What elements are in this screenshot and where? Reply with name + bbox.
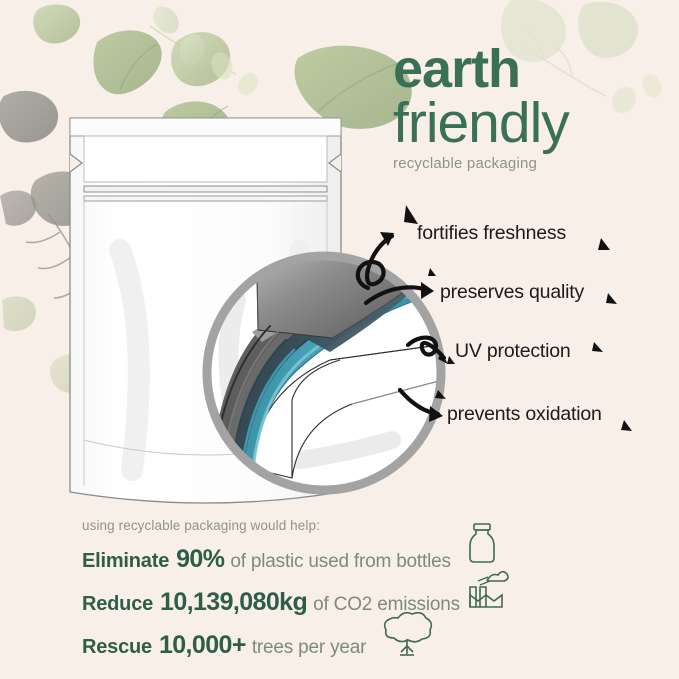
feature-label-fortifies-freshness: fortifies freshness	[417, 222, 566, 245]
stat-verb: Rescue	[82, 636, 152, 659]
factory-icon	[462, 565, 510, 611]
stat-row: Rescue 10,000+ trees per year	[82, 631, 602, 660]
feature-label-preserves-quality: preserves quality	[440, 281, 584, 304]
stat-verb: Eliminate	[82, 550, 169, 573]
stat-value: 10,000+	[159, 631, 246, 660]
stats-block: using recyclable packaging would help: E…	[82, 518, 602, 674]
feature-label-prevents-oxidation: prevents oxidation	[447, 403, 602, 426]
film-layer-magnifier	[207, 218, 450, 500]
bottle-icon	[462, 520, 502, 566]
tree-icon	[378, 608, 436, 660]
stat-value: 90%	[176, 545, 224, 574]
headline-block: earth friendly recyclable packaging	[393, 44, 673, 172]
pouch-outline	[70, 118, 341, 503]
stats-lead-in: using recyclable packaging would help:	[82, 518, 602, 533]
headline-line-2: friendly	[393, 94, 673, 152]
feature-label-uv-protection: UV protection	[455, 340, 571, 363]
callout-arrows	[358, 232, 448, 422]
stat-verb: Reduce	[82, 593, 153, 616]
stat-value: 10,139,080kg	[160, 588, 307, 617]
stat-tail: trees per year	[252, 637, 366, 659]
stat-tail: of plastic used from bottles	[230, 551, 450, 573]
headline-subtitle: recyclable packaging	[393, 155, 673, 172]
headline-line-1: earth	[393, 44, 673, 94]
stat-row: Eliminate 90% of plastic used from bottl…	[82, 545, 602, 574]
stat-row: Reduce 10,139,080kg of CO2 emissions	[82, 588, 602, 617]
infographic-canvas: earth friendly recyclable packaging fort…	[0, 0, 679, 679]
